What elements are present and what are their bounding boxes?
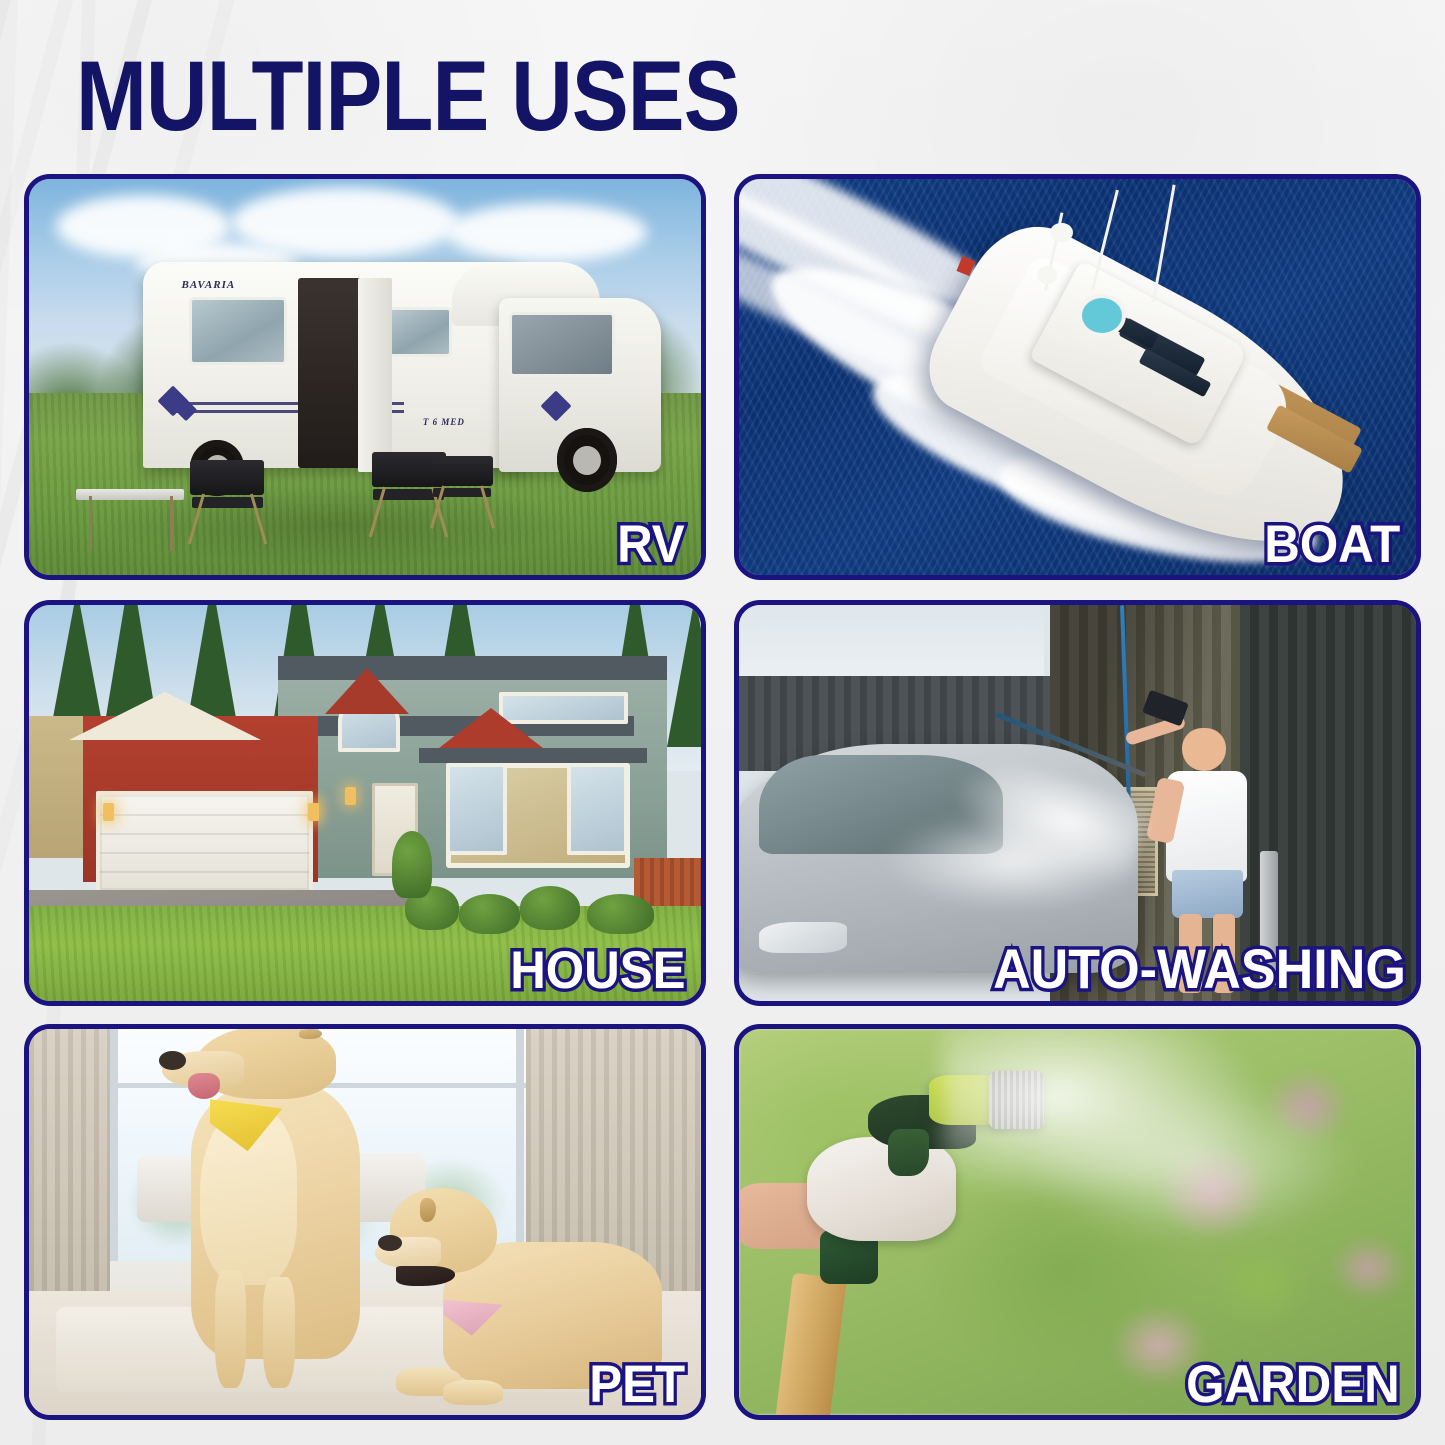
use-case-panel-garden[interactable]: GARDEN (734, 1024, 1421, 1420)
use-case-panel-auto-washing[interactable]: AUTO-WASHING (734, 600, 1421, 1006)
infographic-root: MULTIPLE USES BAVARIA T 6 MED (0, 0, 1445, 1445)
page-title: MULTIPLE USES (76, 46, 740, 145)
panel-caption-auto-washing: AUTO-WASHING (993, 941, 1406, 997)
panel-caption-pet: PET (589, 1358, 685, 1411)
use-case-panel-rv[interactable]: BAVARIA T 6 MED (24, 174, 706, 580)
use-case-panel-pet[interactable]: PET (24, 1024, 706, 1420)
panel-caption-boat: BOAT (1264, 518, 1400, 571)
use-case-panel-house[interactable]: HOUSE (24, 600, 706, 1006)
panel-caption-garden: GARDEN (1186, 1358, 1400, 1411)
use-case-panel-boat[interactable]: BOAT (734, 174, 1421, 580)
rv-photo: BAVARIA T 6 MED (29, 179, 701, 575)
dog-sitting (157, 1029, 399, 1396)
panel-caption-rv: RV (617, 518, 685, 571)
panel-caption-house: HOUSE (510, 944, 685, 997)
